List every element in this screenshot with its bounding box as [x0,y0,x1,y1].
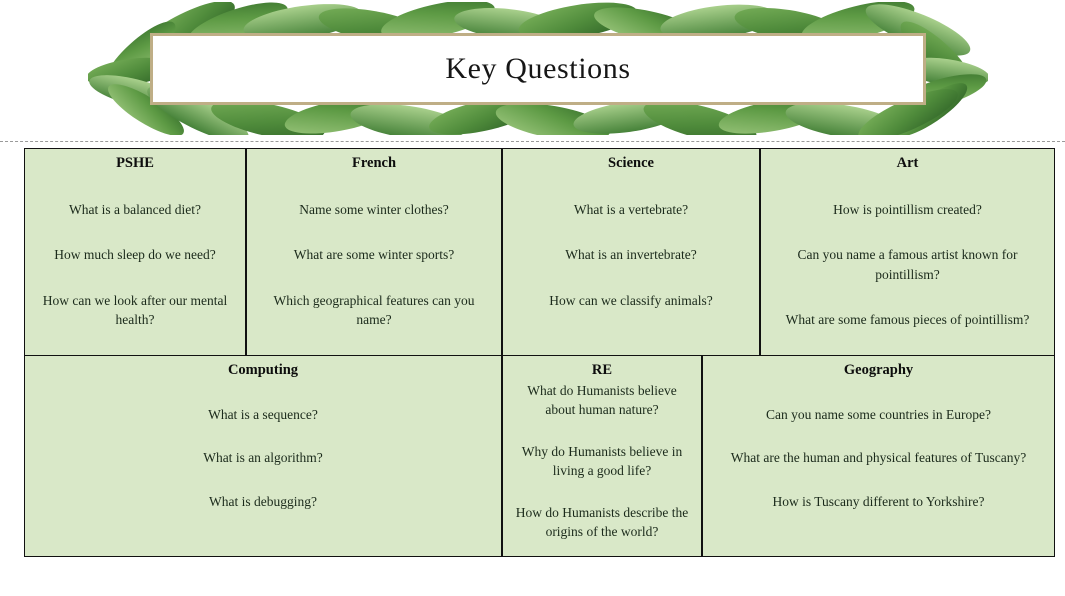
subject-cell-pshe[interactable]: PSHE What is a balanced diet? How much s… [24,148,246,356]
question-item: Name some winter clothes? [257,200,491,220]
page-title: Key Questions [150,33,926,105]
subject-cell-science[interactable]: Science What is a vertebrate? What is an… [502,148,760,356]
question-list: Can you name some countries in Europe? W… [713,381,1044,512]
question-item: What are some famous pieces of pointilli… [771,310,1044,330]
key-questions-table: PSHE What is a balanced diet? How much s… [24,148,1055,557]
subject-title: PSHE [116,155,154,172]
question-list: What is a vertebrate? What is an inverte… [513,174,749,311]
question-item: What is a balanced diet? [35,200,235,220]
subject-title: French [352,155,396,172]
subject-title: Art [897,155,919,172]
question-item: Which geographical features can you name… [257,291,491,330]
question-item: How can we classify animals? [513,291,749,311]
question-list: What is a sequence? What is an algorithm… [35,381,491,512]
question-item: What is an invertebrate? [513,245,749,265]
question-item: What are some winter sports? [257,245,491,265]
question-item: How do Humanists describe the origins of… [513,503,691,542]
question-list: What is a balanced diet? How much sleep … [35,174,235,330]
question-item: What do Humanists believe about human na… [513,381,691,420]
subject-cell-art[interactable]: Art How is pointillism created? Can you … [760,148,1055,356]
question-item: What is an algorithm? [35,448,491,468]
question-item: What is a sequence? [35,405,491,425]
question-item: How can we look after our mental health? [35,291,235,330]
question-item: What are the human and physical features… [713,448,1044,468]
subject-cell-computing[interactable]: Computing What is a sequence? What is an… [24,356,502,557]
table-row: PSHE What is a balanced diet? How much s… [24,148,1055,356]
question-list: What do Humanists believe about human na… [513,381,691,542]
subject-cell-re[interactable]: RE What do Humanists believe about human… [502,356,702,557]
question-item: What is debugging? [35,492,491,512]
question-item: How is pointillism created? [771,200,1044,220]
subject-title: RE [592,362,612,379]
page-header: Key Questions [0,0,1065,143]
question-item: Why do Humanists believe in living a goo… [513,442,691,481]
question-item: Can you name a famous artist known for p… [771,245,1044,284]
subject-title: Geography [844,362,913,379]
question-list: How is pointillism created? Can you name… [771,174,1044,330]
question-item: How much sleep do we need? [35,245,235,265]
question-item: What is a vertebrate? [513,200,749,220]
header-banner: Key Questions [88,2,988,135]
header-divider [0,141,1065,142]
subject-cell-geography[interactable]: Geography Can you name some countries in… [702,356,1055,557]
question-list: Name some winter clothes? What are some … [257,174,491,330]
question-item: How is Tuscany different to Yorkshire? [713,492,1044,512]
question-item: Can you name some countries in Europe? [713,405,1044,425]
table-row: Computing What is a sequence? What is an… [24,356,1055,557]
subject-title: Computing [228,362,298,379]
subject-cell-french[interactable]: French Name some winter clothes? What ar… [246,148,502,356]
subject-title: Science [608,155,654,172]
